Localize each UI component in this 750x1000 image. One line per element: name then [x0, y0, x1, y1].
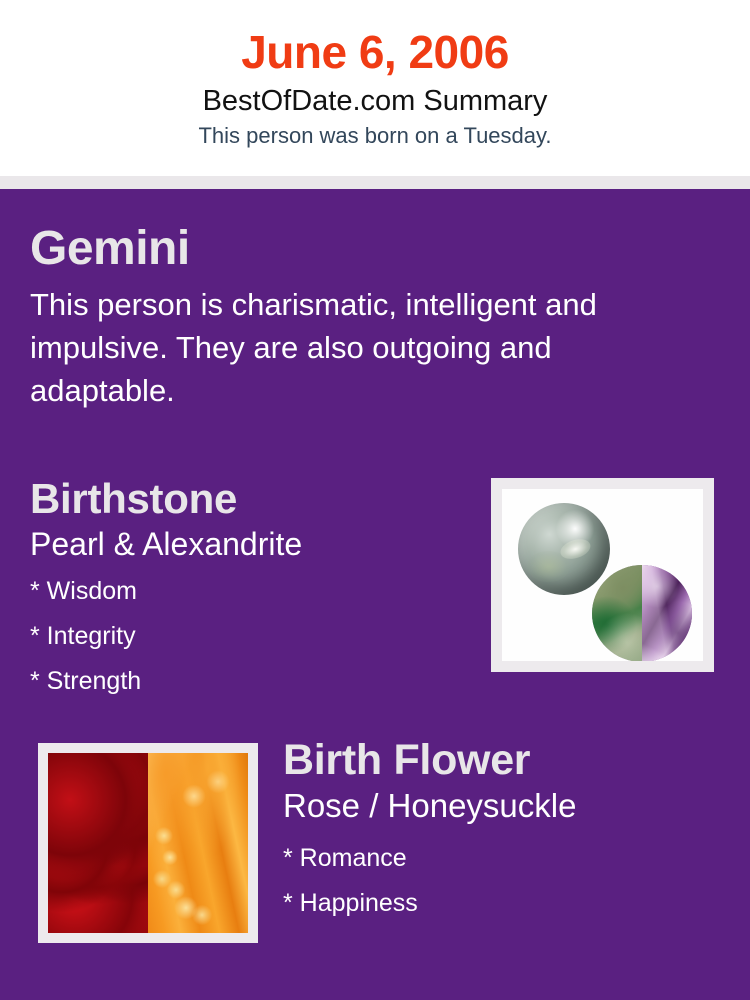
birth-flower-image-frame — [38, 743, 258, 943]
site-summary-label: BestOfDate.com Summary — [0, 81, 750, 119]
zodiac-sign-name: Gemini — [30, 221, 700, 277]
zodiac-description: This person is charismatic, intelligent … — [30, 277, 695, 412]
header-divider — [0, 176, 750, 189]
alexandrite-rough-half — [592, 565, 642, 661]
card-header: June 6, 2006 BestOfDate.com Summary This… — [0, 0, 750, 176]
birth-flower-section: Birth Flower Rose / Honeysuckle * Romanc… — [283, 734, 713, 926]
born-day-text: This person was born on a Tuesday. — [0, 119, 750, 150]
birthstone-image-frame — [491, 478, 714, 672]
date-summary-card: June 6, 2006 BestOfDate.com Summary This… — [0, 0, 750, 1000]
birth-flower-heading: Birth Flower — [283, 734, 713, 786]
birthstone-section: Birthstone Pearl & Alexandrite * Wisdom … — [30, 474, 475, 704]
list-item: * Integrity — [30, 614, 475, 659]
birthstone-photo — [502, 489, 703, 661]
birth-flower-subtitle: Rose / Honeysuckle — [283, 786, 713, 826]
page-title-date: June 6, 2006 — [0, 0, 750, 81]
birth-flower-trait-list: * Romance * Happiness — [283, 826, 713, 926]
list-item: * Romance — [283, 836, 713, 881]
alexandrite-faceted-half — [642, 565, 692, 661]
birth-flower-photo — [48, 753, 248, 933]
red-roses-image — [48, 753, 148, 933]
birthstone-subtitle: Pearl & Alexandrite — [30, 524, 475, 563]
alexandrite-gem-icon — [592, 565, 692, 661]
birthstone-heading: Birthstone — [30, 474, 475, 524]
list-item: * Strength — [30, 659, 475, 704]
birthstone-trait-list: * Wisdom * Integrity * Strength — [30, 563, 475, 704]
zodiac-section: Gemini This person is charismatic, intel… — [30, 221, 700, 412]
list-item: * Happiness — [283, 881, 713, 926]
list-item: * Wisdom — [30, 569, 475, 614]
content-panel: Gemini This person is charismatic, intel… — [0, 189, 750, 1000]
orange-honeysuckle-image — [148, 753, 248, 933]
